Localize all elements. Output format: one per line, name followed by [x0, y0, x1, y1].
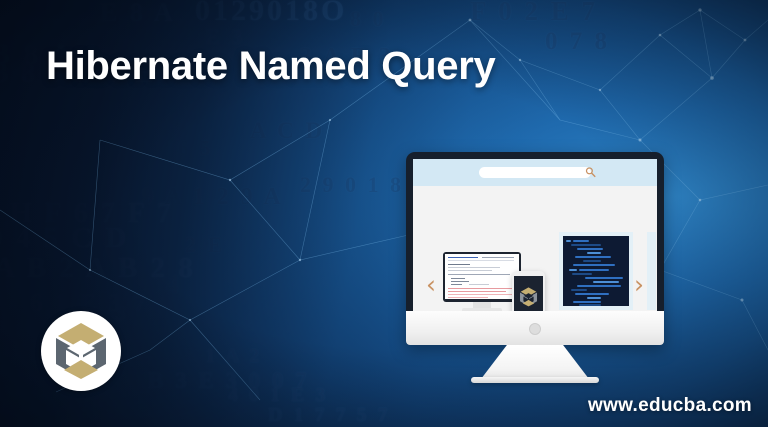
carousel-prev-icon[interactable]: ‹ — [426, 272, 436, 297]
browser-content-area: ‹ › — [413, 186, 657, 311]
phone-screen — [514, 276, 543, 311]
cube-icon — [514, 276, 543, 311]
website-url: www.educba.com — [588, 395, 752, 417]
educba-logo — [41, 311, 121, 391]
monitor-bezel — [406, 311, 664, 345]
search-icon[interactable] — [585, 166, 596, 178]
mini-monitor-document-preview — [443, 252, 521, 311]
smartphone-with-logo — [512, 271, 545, 311]
cube-icon — [53, 322, 109, 380]
banner-root: 0129018O F 0 2 E 7 B 8 A 1 3 A B 3 3 8 0… — [0, 0, 768, 427]
page-title: Hibernate Named Query — [46, 44, 495, 88]
next-slide-sliver — [647, 232, 656, 310]
code-editor-content — [563, 236, 629, 306]
monitor-foot — [471, 377, 599, 383]
monitor-screen: ‹ › — [413, 159, 657, 311]
desktop-monitor-illustration: ‹ › — [406, 152, 664, 345]
code-editor-panel — [559, 232, 633, 310]
monitor-camera-button — [529, 323, 541, 335]
carousel-next-icon[interactable]: › — [634, 272, 644, 297]
search-input[interactable] — [479, 167, 591, 178]
mini-monitor-screen — [445, 254, 519, 299]
